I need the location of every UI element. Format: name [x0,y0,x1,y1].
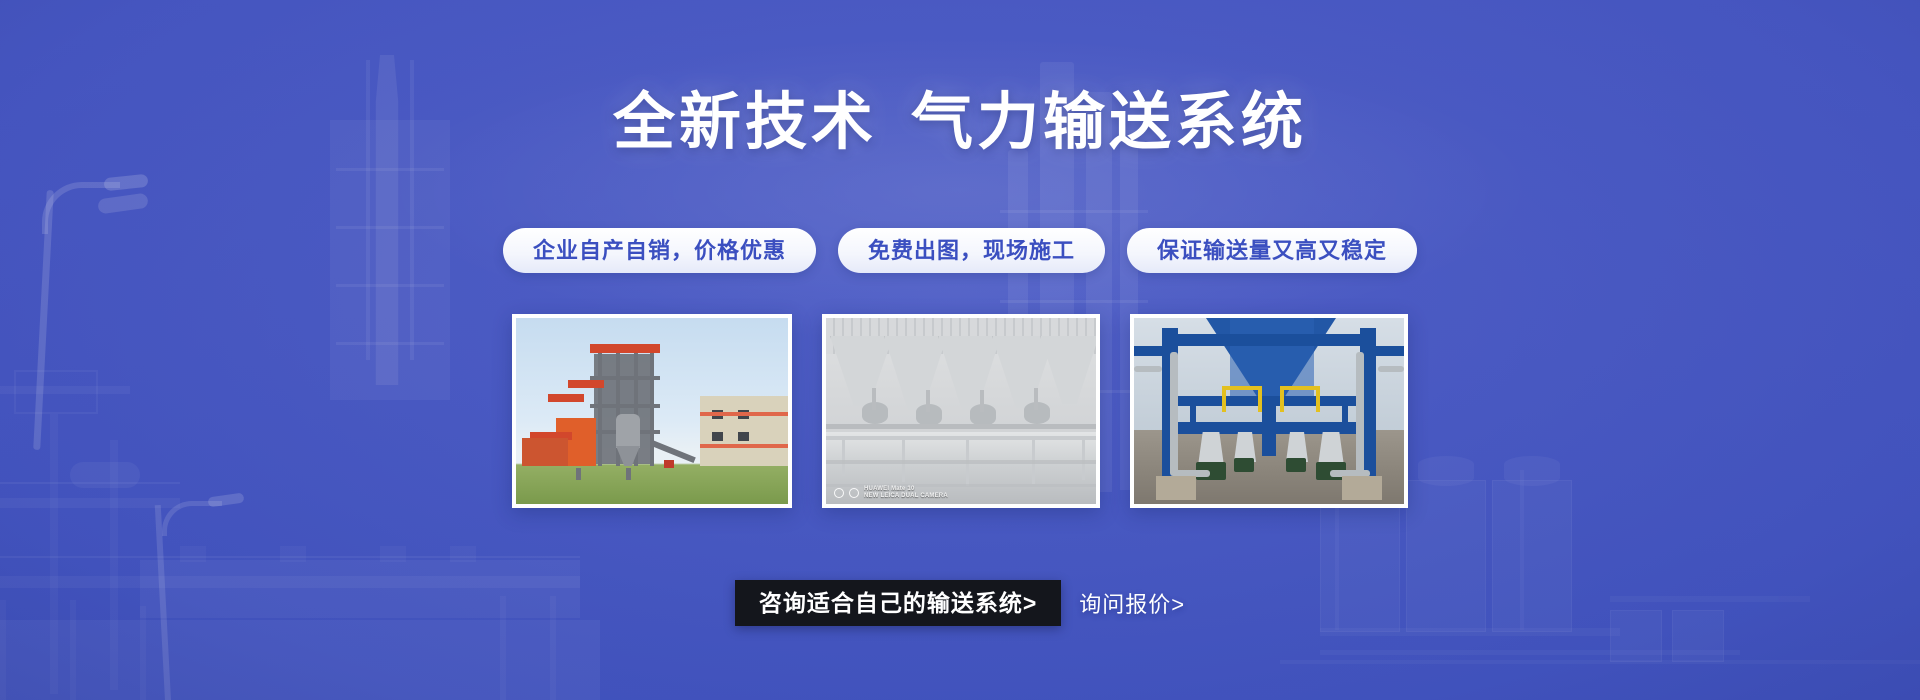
photo-blue-steel-structure [1134,318,1404,504]
consult-system-button[interactable]: 咨询适合自己的输送系统> [735,580,1061,626]
photo-hopper-interior: HUAWEI Mate 10 NEW LEICA DUAL CAMERA [826,318,1096,504]
camera-lens-icon [849,488,859,498]
cta-group: 咨询适合自己的输送系统> 询问报价> [0,580,1920,626]
page-title: 全新技术气力输送系统 [0,92,1920,154]
headline-part-left: 全新技术 [613,88,877,157]
gallery-card-hopper-interior[interactable]: HUAWEI Mate 10 NEW LEICA DUAL CAMERA [822,314,1100,508]
photo-gallery: HUAWEI Mate 10 NEW LEICA DUAL CAMERA [0,314,1920,508]
feature-pill-2[interactable]: 免费出图，现场施工 [838,228,1105,273]
request-quote-link[interactable]: 询问报价> [1079,587,1185,619]
photo-watermark: HUAWEI Mate 10 NEW LEICA DUAL CAMERA [834,486,948,500]
watermark-line-2: NEW LEICA DUAL CAMERA [864,493,948,499]
gallery-card-blue-steel-structure[interactable] [1130,314,1408,508]
gallery-card-plant-exterior[interactable] [512,314,792,508]
photo-plant-exterior [516,318,788,504]
camera-lens-icon [834,488,844,498]
feature-pill-list: 企业自产自销，价格优惠 免费出图，现场施工 保证输送量又高又稳定 [0,228,1920,273]
feature-pill-3[interactable]: 保证输送量又高又稳定 [1127,228,1417,273]
headline-part-right: 气力输送系统 [911,88,1307,157]
hero-banner: 全新技术气力输送系统 企业自产自销，价格优惠 免费出图，现场施工 保证输送量又高… [0,0,1920,700]
feature-pill-1[interactable]: 企业自产自销，价格优惠 [503,228,816,273]
watermark-line-1: HUAWEI Mate 10 [864,486,914,492]
